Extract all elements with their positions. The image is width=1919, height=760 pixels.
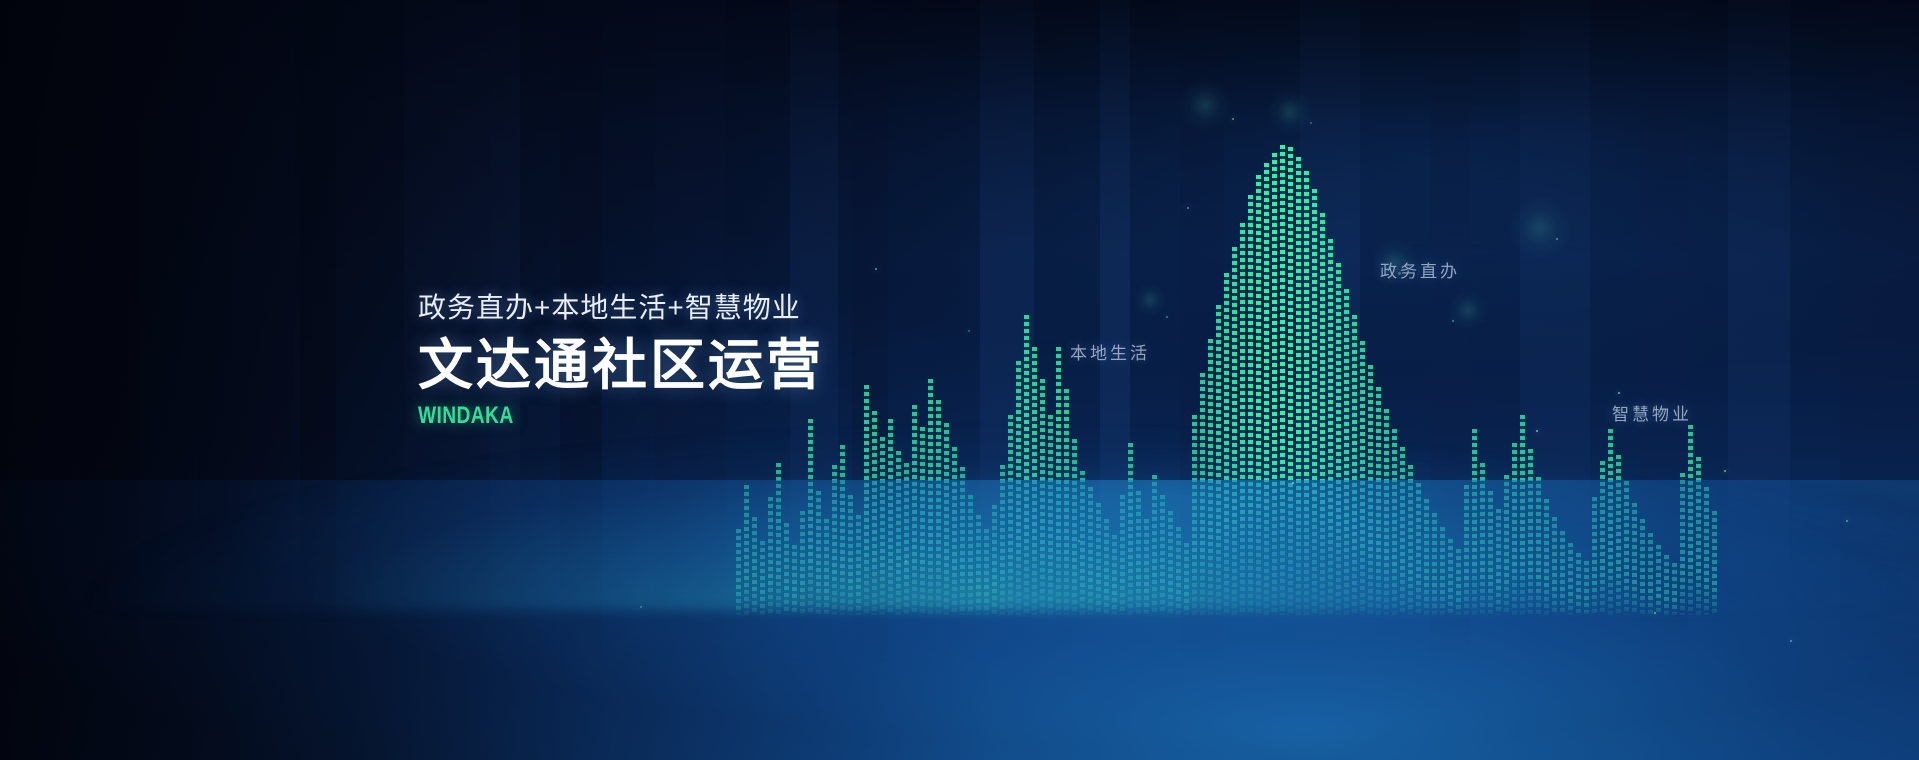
headline-block: 政务直办+本地生活+智慧物业 文达通社区运营 WINDAKA bbox=[418, 294, 824, 428]
brand-wordmark: WINDAKA bbox=[418, 404, 743, 428]
banner-title: 文达通社区运营 bbox=[418, 337, 824, 395]
banner-subtitle: 政务直办+本地生活+智慧物业 bbox=[418, 294, 824, 322]
perspective-floor bbox=[0, 480, 1919, 760]
zone-label-zhengwu: 政务直办 bbox=[1380, 257, 1460, 282]
floor-wash bbox=[0, 480, 1919, 760]
banner-root: 政务直办+本地生活+智慧物业 文达通社区运营 WINDAKA 政务直办 本地生活… bbox=[0, 0, 1919, 760]
zone-label-zhihui: 智慧物业 bbox=[1612, 400, 1692, 425]
zone-label-bendi: 本地生活 bbox=[1070, 339, 1150, 364]
